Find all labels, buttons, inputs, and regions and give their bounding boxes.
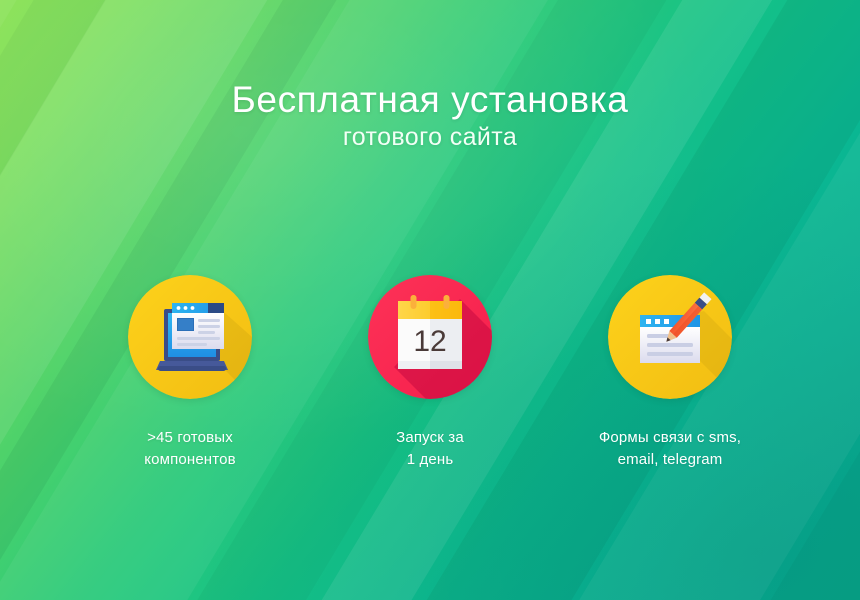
feature-caption-components: >45 готовых компонентов xyxy=(144,427,235,471)
feature-item-launch-time: 12 Запуск за 1 день xyxy=(310,275,550,471)
feature-caption-launch-time: Запуск за 1 день xyxy=(396,427,464,471)
page-title: Бесплатная установка xyxy=(0,80,860,119)
feature-row: >45 готовых компонентов xyxy=(70,275,790,471)
form-pencil-icon xyxy=(608,275,732,399)
feature-caption-contact-forms: Формы связи с sms, email, telegram xyxy=(599,427,741,471)
page-subtitle: готового сайта xyxy=(0,123,860,152)
browser-window-laptop-icon xyxy=(128,275,252,399)
heading-block: Бесплатная установка готового сайта xyxy=(0,80,860,152)
calendar-day-number: 12 xyxy=(413,325,446,358)
promo-banner: Бесплатная установка готового сайта xyxy=(0,0,860,600)
feature-item-components: >45 готовых компонентов xyxy=(70,275,310,471)
feature-item-contact-forms: Формы связи с sms, email, telegram xyxy=(550,275,790,471)
calendar-icon: 12 xyxy=(368,275,492,399)
